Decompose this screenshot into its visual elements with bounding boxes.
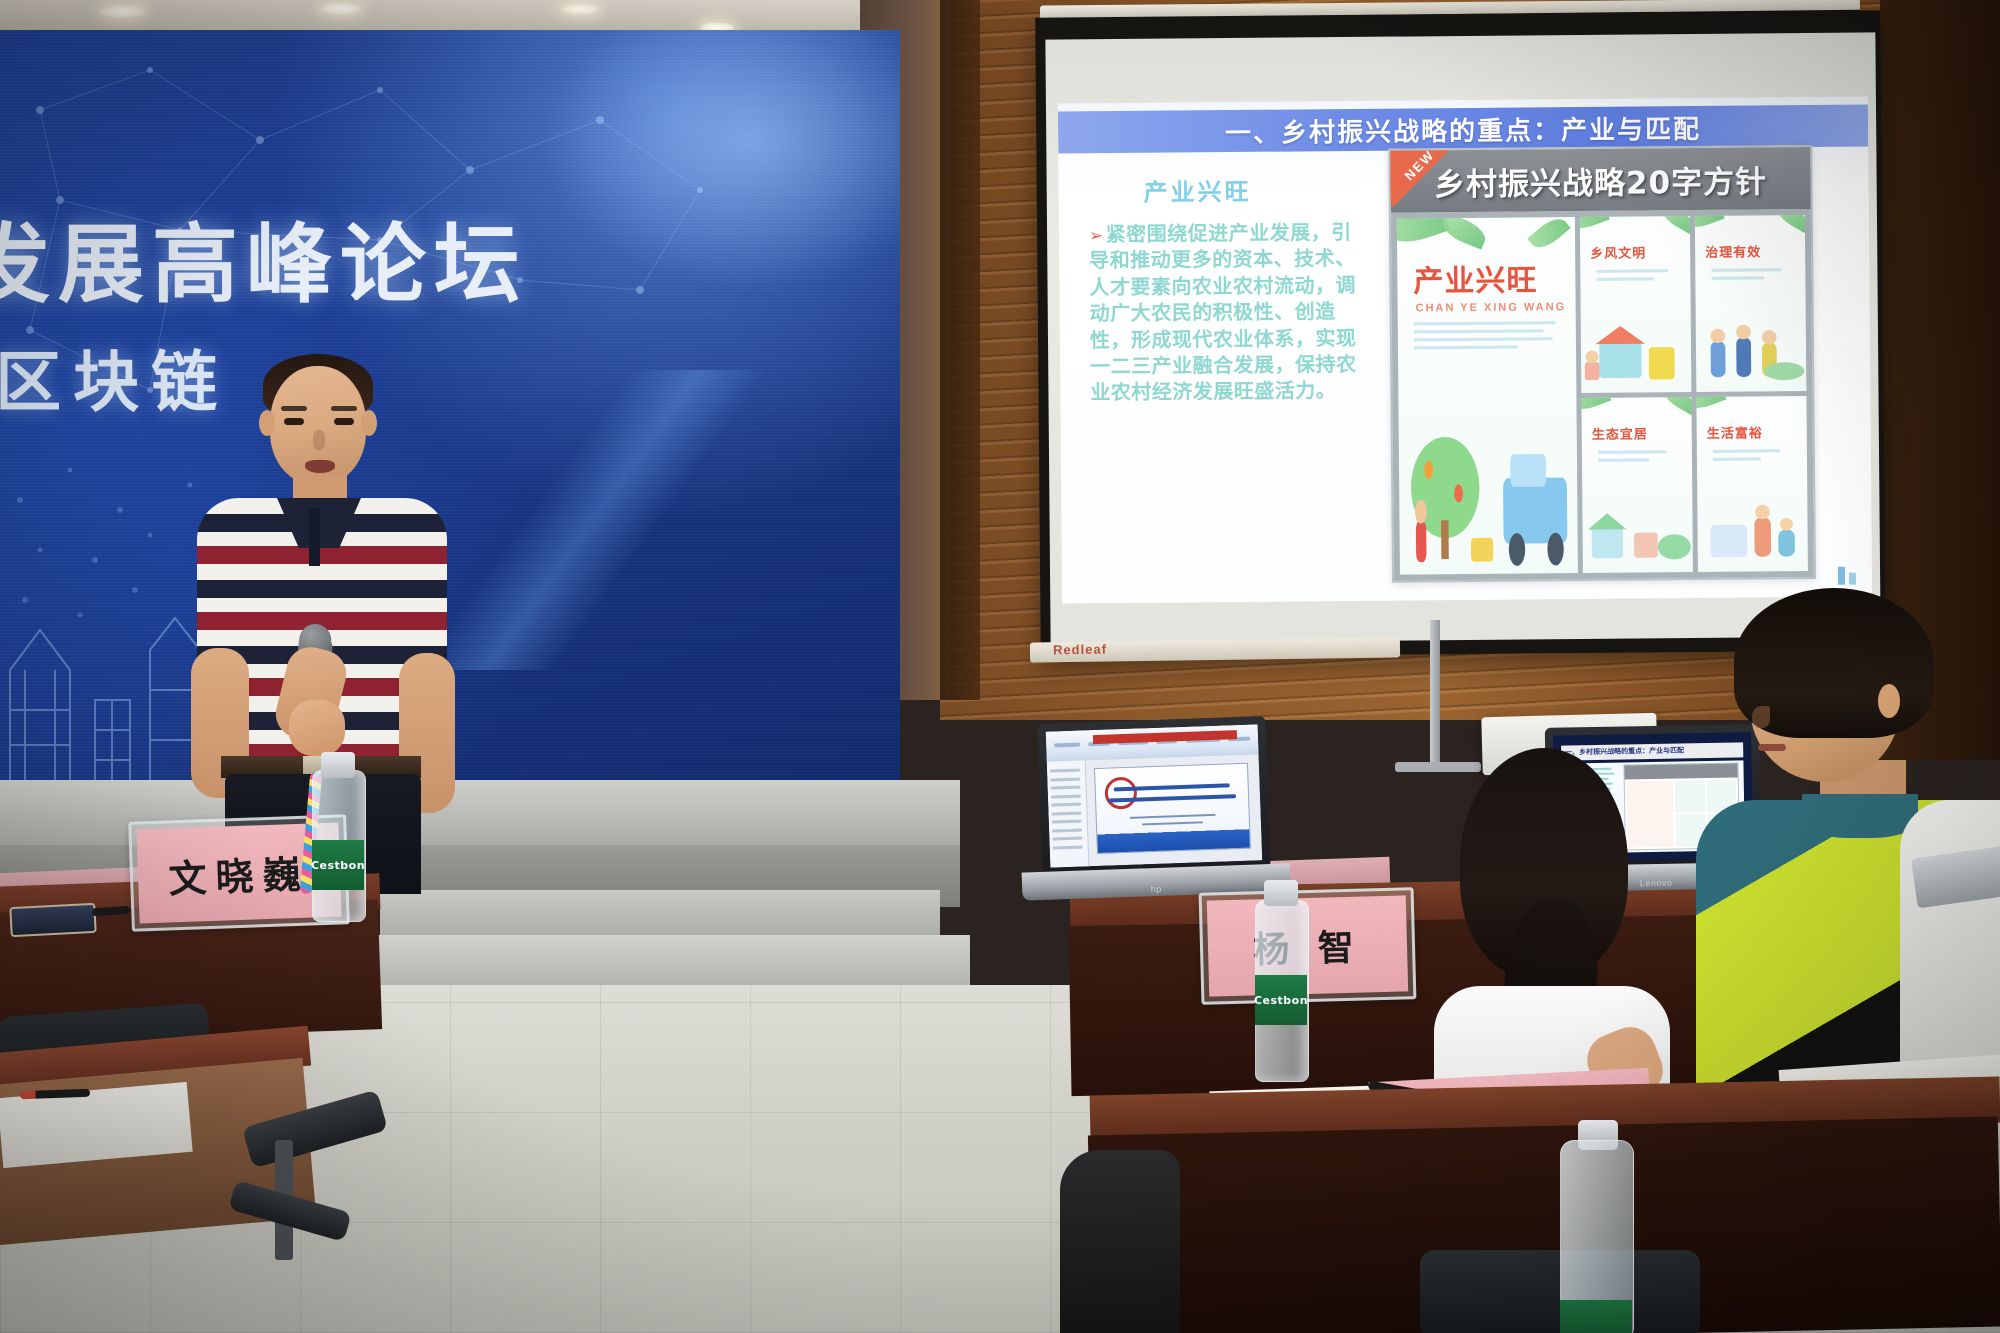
slide-corner-mark-icon (1834, 561, 1862, 589)
slide-poster: NEW 乡村振兴战略20字方针 产业兴旺 CHAN YE XING WANG (1388, 145, 1816, 583)
speaker-ear (259, 410, 275, 436)
poster-panel-body-lines (1414, 321, 1562, 354)
chair-backrest[interactable] (1060, 1150, 1180, 1333)
slide-title: 一、乡村振兴战略的重点：产业与匹配 (1225, 108, 1701, 149)
poster-illustration-icon (1582, 491, 1693, 573)
smartphone[interactable] (9, 903, 96, 937)
projector-stand-pole (1430, 620, 1440, 770)
poster-panel-title: 生活富裕 (1707, 422, 1807, 442)
poster-panel: 产业兴旺 CHAN YE XING WANG (1397, 217, 1578, 575)
ppt-slide-canvas (1094, 763, 1252, 855)
poster-illustration-icon (1399, 409, 1579, 574)
projected-slide: 一、乡村振兴战略的重点：产业与匹配 产业兴旺 ➢紧密围绕促进产业发展，引导和推动… (1058, 96, 1872, 603)
ceiling-light (100, 4, 146, 18)
speaker-placket (309, 508, 320, 566)
poster-panel-title: 治理有效 (1705, 241, 1805, 261)
poster-panel-body-lines (1598, 450, 1678, 467)
bottle-brand-text: Cestbon (1254, 994, 1308, 1007)
bottle-label-center: Cestbon (1255, 975, 1307, 1025)
conference-room-photo: 新发展高峰论坛 金·区块链 一、乡村振兴战略的重点：产业与匹配 产业兴旺 ➢紧密… (0, 0, 2000, 1333)
slide-body-copy: 紧密围绕促进产业发展，引导和推动更多的资本、技术、人才要素向农业农村流动，调动广… (1089, 220, 1357, 405)
poster-illustration-icon (1697, 490, 1808, 572)
poster-panel-body-lines (1713, 449, 1793, 466)
bottle-label-front (1560, 1300, 1632, 1333)
ceiling-light (320, 2, 362, 15)
poster-panel-title: 乡风文明 (1590, 242, 1690, 262)
backdrop-glow (540, 30, 900, 290)
speaker-eyebrow (331, 406, 357, 411)
powerpoint-window[interactable] (1046, 724, 1263, 867)
laptop-powerpoint[interactable]: hp (1040, 720, 1290, 900)
man-nose (1752, 706, 1770, 728)
man-mouth (1758, 744, 1786, 751)
poster-panel-title: 生态宜居 (1592, 423, 1692, 443)
laptop-screen (1046, 724, 1263, 867)
poster-panel-title: 产业兴旺 (1413, 255, 1575, 300)
slide-subtitle: 产业兴旺 (1143, 172, 1251, 208)
speaker-mouth (305, 460, 335, 473)
poster-panel-body-lines (1711, 268, 1791, 285)
laptop-brand-label: hp (1151, 884, 1162, 894)
bottle-brand-text: Cestbon (311, 859, 365, 872)
poster-header: NEW 乡村振兴战略20字方针 (1390, 147, 1811, 213)
ppt-slide-panel[interactable] (1047, 760, 1090, 867)
poster-panel-pinyin: CHAN YE XING WANG (1416, 301, 1576, 314)
nameplate-left-text: 文晓巍 (168, 843, 311, 903)
poster-panel: 生态宜居 (1582, 397, 1693, 573)
slide-body-text: ➢紧密围绕促进产业发展，引导和推动更多的资本、技术、人才要素向农业农村流动，调动… (1089, 219, 1366, 406)
poster-panel: 生活富裕 (1696, 396, 1807, 572)
no-entry-icon (1104, 776, 1137, 809)
bottle-cap[interactable] (321, 752, 355, 778)
wall-beam (940, 0, 980, 700)
man-eyebrow (1764, 678, 1794, 683)
bullet-arrow-icon: ➢ (1089, 226, 1104, 246)
speaker-eye (284, 418, 304, 425)
poster-illustration-icon (1581, 311, 1692, 393)
bottle-label-left: Cestbon (312, 840, 364, 890)
poster-panel-grid: 产业兴旺 CHAN YE XING WANG (1391, 209, 1814, 581)
speaker-nose (313, 430, 325, 450)
screen-brand-label: Redleaf (1053, 642, 1107, 658)
poster-panel: 治理有效 (1695, 215, 1806, 391)
poster-illustration-icon (1696, 310, 1807, 392)
bottle-cap[interactable] (1264, 880, 1298, 906)
speaker-hand (289, 700, 345, 756)
ceiling-light (560, 3, 600, 15)
speaker-eye (334, 418, 354, 425)
man-ear (1878, 684, 1900, 718)
poster-panel-body-lines (1596, 269, 1676, 286)
poster-header-text: 乡村振兴战略20字方针 (1434, 156, 1768, 204)
attendee-woman (1440, 748, 1660, 1088)
laptop-lid (1037, 716, 1270, 876)
backdrop-title-line1: 新发展高峰论坛 (0, 220, 528, 310)
speaker-eyebrow (281, 406, 307, 411)
man-eye (1768, 692, 1790, 700)
speaker-ear (361, 410, 377, 436)
poster-panel: 乡风文明 (1580, 216, 1691, 392)
